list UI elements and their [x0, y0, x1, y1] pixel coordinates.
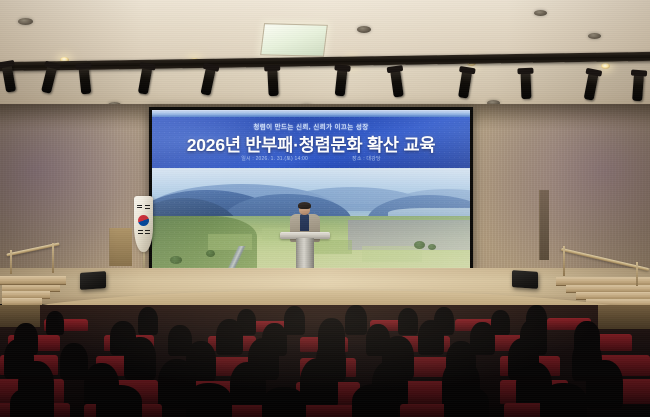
slide-meta-location: 장소 : 대강당 — [352, 155, 381, 162]
handrail-post — [10, 250, 12, 274]
audience-member — [444, 386, 489, 417]
audience-member — [398, 308, 418, 335]
audience-member — [284, 306, 305, 335]
flag-shading — [134, 196, 153, 252]
slide-title-banner: 청렴이 만드는 신뢰, 신뢰가 이끄는 성장 2026년 반부패·청렴문화 확산… — [152, 110, 470, 168]
handrail-post — [636, 262, 638, 286]
audience-member — [352, 384, 398, 417]
stair-step — [0, 276, 66, 285]
auditorium-photo: 청렴이 만드는 신뢰, 신뢰가 이끄는 성장 2026년 반부패·청렴문화 확산… — [0, 0, 650, 417]
audience-member — [10, 387, 54, 417]
handrail-post — [563, 246, 565, 276]
presenter-hair — [298, 202, 311, 209]
slide-subtitle: 청렴이 만드는 신뢰, 신뢰가 이끄는 성장 — [152, 121, 470, 131]
slide-title: 2026년 반부패·청렴문화 확산 교육 — [152, 132, 470, 157]
audience-member — [60, 343, 88, 380]
recessed-ceiling-light-panel — [260, 23, 328, 57]
slide-meta-datetime: 일시 : 2026. 1. 31.(토) 14:00 — [241, 155, 308, 162]
audience-member — [46, 311, 64, 335]
presenter-shirt — [300, 214, 309, 231]
stage-spotlight-icon — [632, 75, 644, 102]
downlight-icon — [588, 33, 601, 39]
banner-top-strip — [152, 110, 470, 117]
audience-member — [124, 337, 156, 380]
audience-member — [262, 387, 306, 417]
downlight-icon — [601, 63, 610, 69]
slide-meta-row: 일시 : 2026. 1. 31.(토) 14:00 장소 : 대강당 — [152, 155, 470, 162]
stage-monitor-speaker-left — [80, 271, 106, 290]
audience-member — [186, 383, 232, 417]
handrail-post — [52, 243, 54, 273]
audience-member — [230, 362, 266, 409]
side-wall-panel-right — [598, 305, 650, 329]
audience-member — [540, 383, 587, 417]
stage-spotlight-icon — [521, 73, 532, 99]
downlight-icon — [534, 10, 547, 16]
audience-member — [586, 360, 623, 409]
audience-member — [216, 319, 243, 355]
audience-member — [138, 307, 158, 335]
stage-monitor-speaker-right — [512, 270, 538, 289]
audience-seating — [0, 305, 650, 417]
flag-cloth — [134, 196, 153, 252]
audience-member — [418, 320, 444, 355]
downlight-icon — [357, 26, 371, 33]
downlight-icon — [18, 18, 33, 25]
stage-spotlight-icon — [267, 70, 278, 96]
audience-member — [96, 385, 142, 417]
audience-member — [345, 305, 367, 335]
